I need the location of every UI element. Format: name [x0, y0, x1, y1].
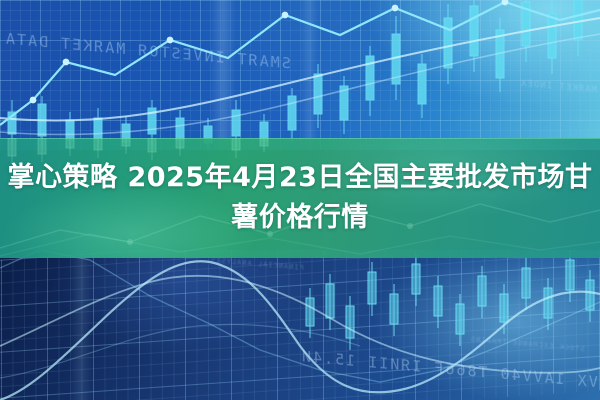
banner-image: ЅMAЯT INVESTOЯ MAЯKET DATA GLOBAL MAЯKET…	[0, 0, 600, 400]
candlestick-group-bottom	[306, 250, 594, 350]
top-chart-graphics	[0, 0, 600, 150]
bottom-chart-panel: 45.03 789IVX 1AVV40 T866F IЯИII 15.4И FI…	[0, 250, 600, 400]
banner-title: 掌心策略 2025年4月23日全国主要批发市场甘 薯价格行情	[0, 138, 600, 258]
candlestick-group-top	[8, 0, 582, 150]
title-line-2: 薯价格行情	[231, 198, 369, 238]
top-chart-panel: ЅMAЯT INVESTOЯ MAЯKET DATA GLOBAL MAЯKET…	[0, 0, 600, 150]
title-line-1: 掌心策略 2025年4月23日全国主要批发市场甘	[8, 158, 593, 198]
trend-line-top	[0, 2, 600, 125]
